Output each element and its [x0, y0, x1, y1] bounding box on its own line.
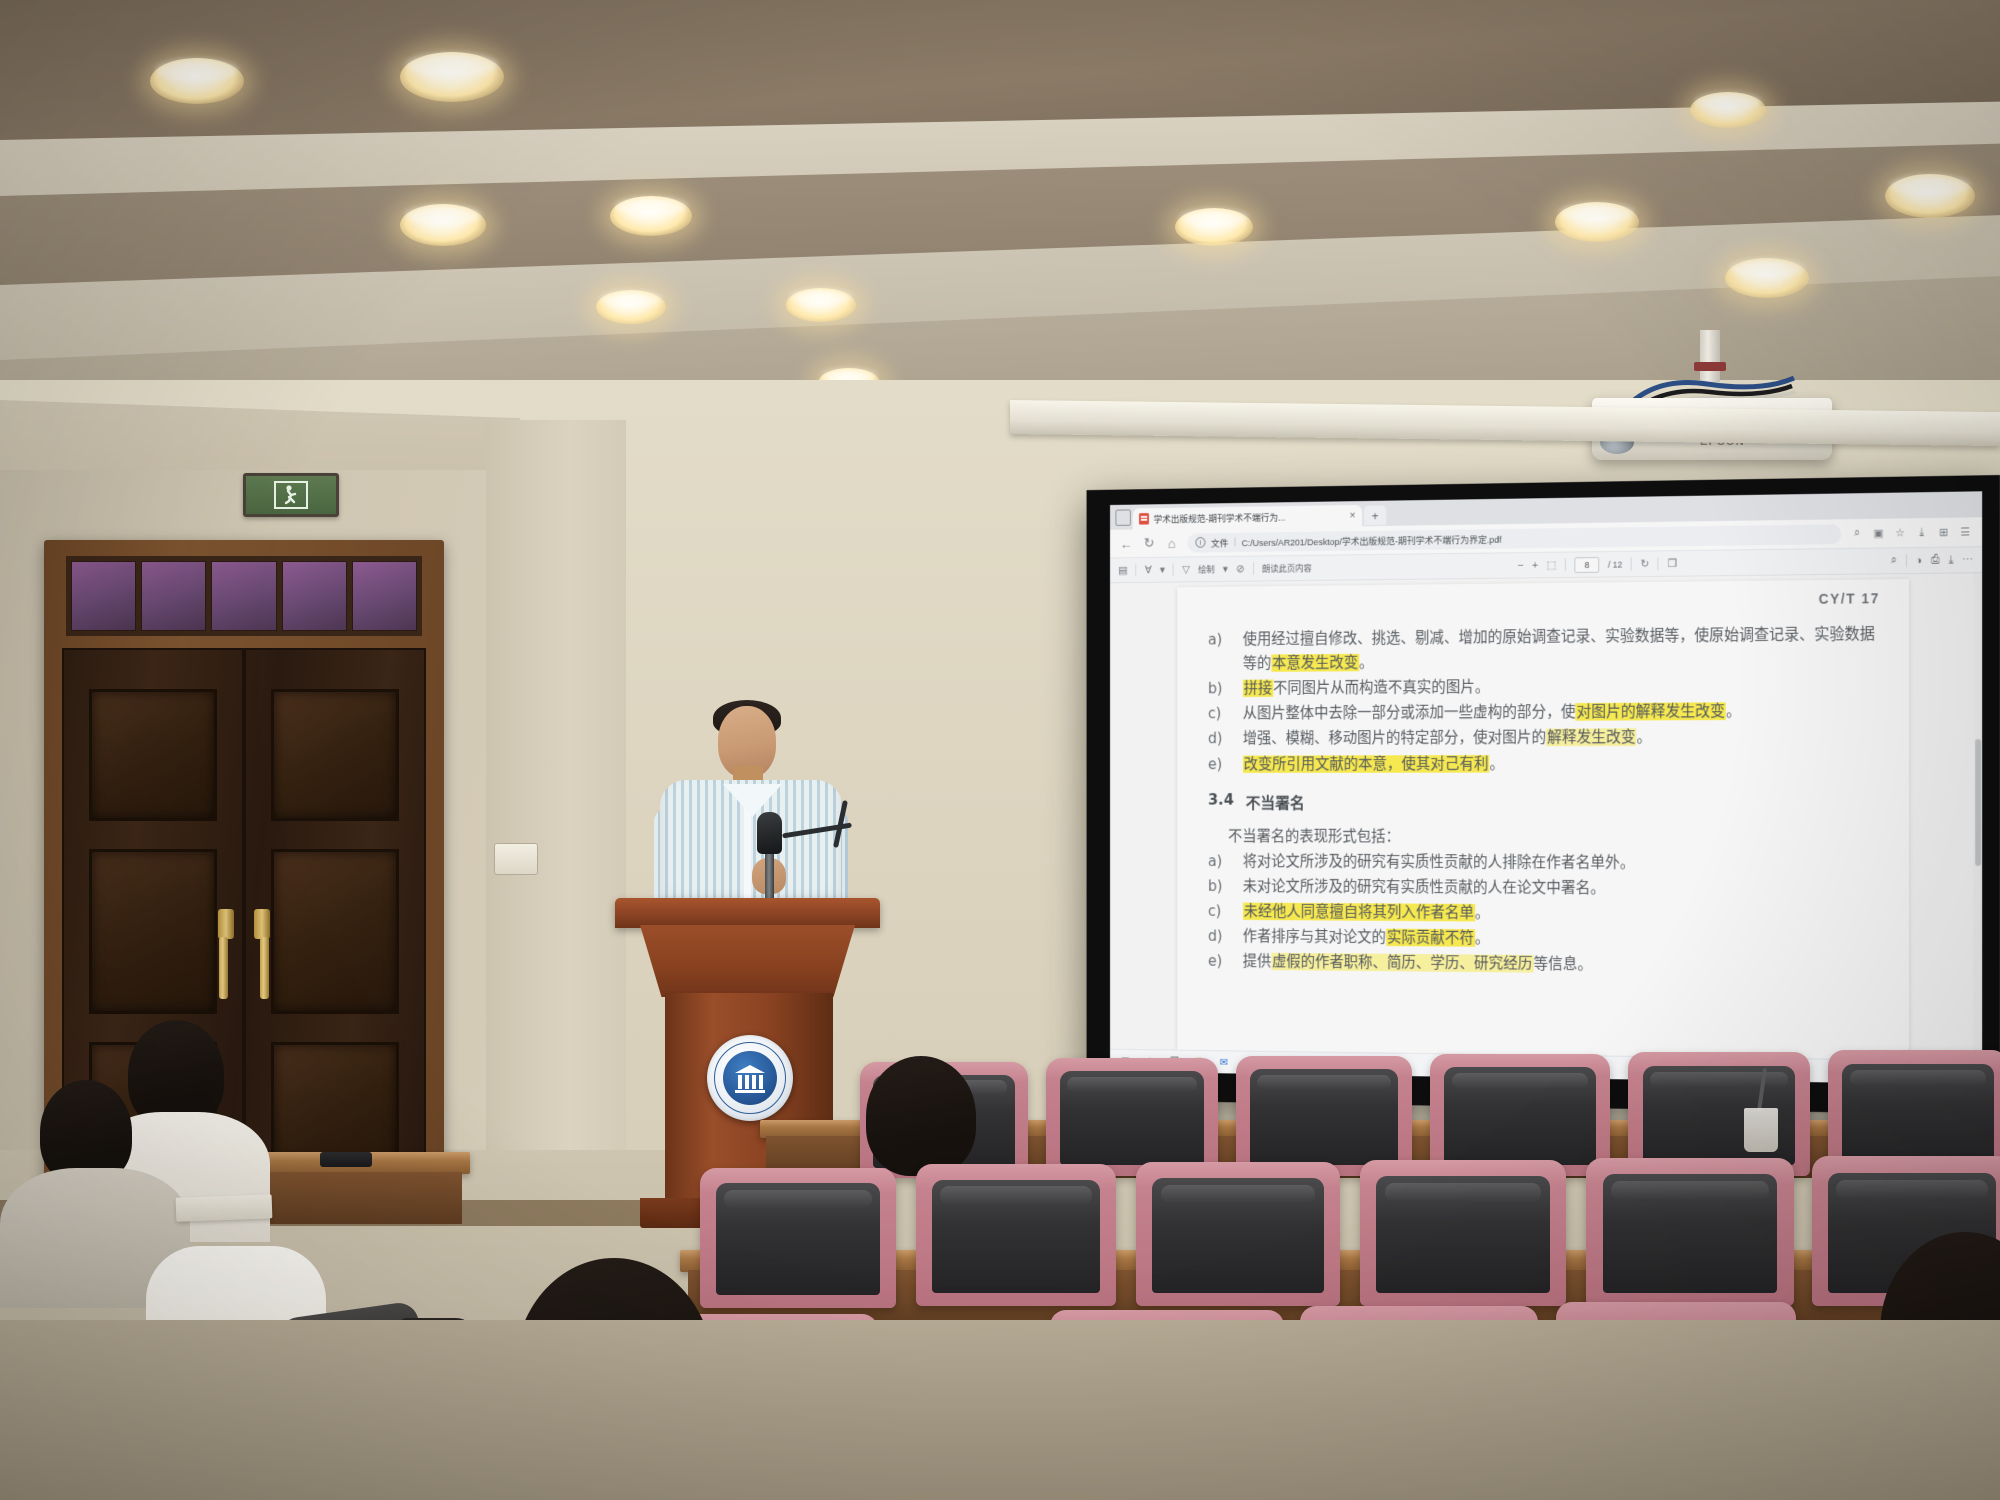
- chair-back-row[interactable]: [1046, 1058, 1218, 1176]
- drink-cup: [1744, 1108, 1778, 1152]
- ceiling-downlight: [400, 204, 486, 246]
- door-panel: [271, 849, 399, 1015]
- door-handle-left[interactable]: [219, 937, 228, 999]
- ceiling-downlight: [596, 290, 666, 324]
- url-scheme-label: 文件: [1211, 535, 1228, 549]
- door-handle-right[interactable]: [260, 937, 269, 999]
- light-switch-plate[interactable]: [494, 843, 538, 875]
- list-item-text: 提供虚假的作者职称、简历、学历、研究经历等信息。: [1243, 950, 1880, 980]
- draw-dropdown-icon[interactable]: ▾: [1223, 563, 1228, 576]
- pdf-list-item: a)使用经过擅自修改、挑选、剔减、增加的原始调查记录、实验数据等，使原始调查记录…: [1208, 622, 1880, 676]
- ceiling-downlight: [400, 52, 504, 102]
- pdf-page: CY/T 17 a)使用经过擅自修改、挑选、剔减、增加的原始调查记录、实验数据等…: [1177, 579, 1909, 1060]
- sidebar-toggle-icon[interactable]: ▤: [1118, 564, 1127, 577]
- door-panel: [271, 1042, 399, 1169]
- podium-upper-body: [640, 925, 855, 997]
- chair-back-row[interactable]: [1430, 1054, 1610, 1176]
- more-options-icon[interactable]: ⋯: [1962, 553, 1973, 566]
- plain-text: 不同图片从而构造不真实的图片。: [1273, 678, 1489, 697]
- address-bar[interactable]: i 文件 | C:/Users/AR201/Desktop/学术出版规范-期刊学…: [1187, 524, 1841, 552]
- chair-frame: [916, 1164, 1116, 1306]
- floor: [0, 1320, 2000, 1500]
- ceiling-downlight: [1175, 208, 1253, 246]
- rotate-icon[interactable]: ↻: [1640, 557, 1649, 570]
- chair-cushion: [1152, 1178, 1323, 1293]
- tab-title: 学术出版规范-期刊学术不端行为...: [1154, 509, 1345, 525]
- highlighted-text: 改变所引用文献的本意，使其对己有利: [1243, 755, 1490, 773]
- door-panel: [271, 689, 399, 821]
- plain-text: 。: [1637, 729, 1652, 747]
- list-item-text: 未对论文所涉及的研究有实质性贡献的人在论文中署名。: [1243, 875, 1880, 903]
- emergency-exit-sign: [243, 473, 339, 517]
- chair-frame: [1046, 1058, 1218, 1176]
- list-marker: b): [1208, 677, 1228, 701]
- pdf-favicon: [1139, 513, 1149, 525]
- plain-text: 。: [1726, 703, 1741, 721]
- chair-frame: [1430, 1054, 1610, 1176]
- highlighted-text: 未经他人同意擅自将其列入作者名单: [1243, 902, 1475, 921]
- print-icon[interactable]: ⎙: [1931, 554, 1940, 567]
- highlighted-text: 解释发生改变: [1546, 729, 1636, 747]
- toolbar-divider: [1906, 554, 1907, 567]
- tab-close-icon[interactable]: ×: [1350, 510, 1356, 522]
- plain-text: 未对论文所涉及的研究有实质性贡献的人在论文中署名。: [1243, 877, 1605, 896]
- pdf-list-item: e)提供虚假的作者职称、简历、学历、研究经历等信息。: [1208, 949, 1880, 980]
- chair-middle-row[interactable]: [916, 1164, 1116, 1306]
- read-aloud-label[interactable]: 朗读此页内容: [1262, 562, 1312, 575]
- chair-cushion: [716, 1183, 881, 1295]
- door-leaf-right[interactable]: [244, 648, 426, 1204]
- page-total-label: / 12: [1608, 559, 1622, 569]
- transom-pane: [71, 561, 136, 631]
- section-title: 不当署名: [1246, 790, 1305, 813]
- pdf-list-item: b)未对论文所涉及的研究有实质性贡献的人在论文中署名。: [1208, 874, 1880, 902]
- page-layout-icon[interactable]: ❐: [1667, 557, 1676, 570]
- draw-icon[interactable]: ▽: [1182, 563, 1190, 576]
- list-item-text: 拼接不同图片从而构造不真实的图片。: [1243, 673, 1880, 701]
- favorite-star-icon[interactable]: ☆: [1893, 526, 1907, 540]
- reload-icon[interactable]: ↻: [1142, 535, 1157, 551]
- list-marker: a): [1208, 849, 1228, 873]
- door-lock-escutcheon: [218, 909, 234, 939]
- pdf-list-item: e)改变所引用文献的本意，使其对己有利。: [1208, 751, 1880, 777]
- highlighter-icon[interactable]: ∀: [1145, 564, 1152, 577]
- podium-top-surface: [615, 898, 880, 928]
- ceiling-downlight: [1725, 258, 1809, 298]
- list-item-text: 使用经过擅自修改、挑选、剔减、增加的原始调查记录、实验数据等，使原始调查记录、实…: [1243, 622, 1880, 676]
- collections-icon[interactable]: ▣: [1872, 526, 1886, 540]
- chair-cushion: [1603, 1174, 1778, 1292]
- list-marker: e): [1208, 752, 1228, 776]
- toolbar-divider: [1173, 563, 1174, 575]
- plain-text: 。: [1489, 755, 1504, 773]
- url-path-text: C:/Users/AR201/Desktop/学术出版规范-期刊学术不端行为界定…: [1242, 531, 1502, 548]
- projection-screen: 学术出版规范-期刊学术不端行为... × + ← ↻ ⌂ i 文件 | C:/U…: [1087, 475, 2000, 1115]
- zoom-icon[interactable]: ⌕: [1850, 526, 1864, 540]
- toolbar-divider: [1631, 558, 1632, 571]
- presenter-shirt-placket: [744, 800, 751, 910]
- plain-text: 。: [1475, 904, 1490, 922]
- phone-on-desk: [320, 1152, 372, 1167]
- url-separator: |: [1234, 537, 1236, 548]
- plain-text: 将对论文所涉及的研究有实质性贡献的人排除在作者名单外。: [1243, 852, 1635, 871]
- running-person-exit-icon: [274, 481, 308, 509]
- emblem-core: [723, 1051, 777, 1105]
- transom-pane: [141, 561, 206, 631]
- site-info-icon[interactable]: i: [1195, 537, 1205, 548]
- toolbar-divider: [1253, 562, 1254, 575]
- classical-building-columns-icon: [732, 1062, 768, 1094]
- transom-pane: [211, 561, 276, 631]
- chair-middle-row[interactable]: [1586, 1158, 1794, 1306]
- pdf-list-item: d)增强、模糊、移动图片的特定部分，使对图片的解释发生改变。: [1208, 725, 1880, 752]
- pdf-section-intro: 不当署名的表现形式包括：: [1228, 824, 1880, 847]
- pdf-list-section-3-3: a)使用经过擅自修改、挑选、剔减、增加的原始调查记录、实验数据等，使原始调查记录…: [1208, 622, 1880, 776]
- highlighted-text: 拼接: [1243, 680, 1273, 697]
- tab-search-icon[interactable]: [1115, 509, 1130, 525]
- list-marker: e): [1208, 949, 1228, 973]
- audience-head: [866, 1056, 976, 1176]
- list-marker: b): [1208, 874, 1228, 898]
- plain-text: 作者排序与其对论文的: [1243, 928, 1386, 946]
- list-item-text: 从图片整体中去除一部分或添加一些虚构的部分，使对图片的解释发生改变。: [1243, 699, 1880, 726]
- lecture-hall-scene: EPSON 学术出版规范-期刊学术不端行为... × + ←: [0, 0, 2000, 1500]
- chair-cushion: [1444, 1067, 1595, 1165]
- chair-cushion: [932, 1180, 1100, 1294]
- projected-image-area: 学术出版规范-期刊学术不端行为... × + ← ↻ ⌂ i 文件 | C:/U…: [1110, 491, 1982, 1084]
- page-number-input[interactable]: 8: [1575, 557, 1600, 573]
- door-panel: [89, 849, 217, 1015]
- ceiling-downlight: [1885, 174, 1975, 218]
- fit-page-icon[interactable]: ⬚: [1547, 559, 1557, 572]
- pdf-list-item: b)拼接不同图片从而构造不真实的图片。: [1208, 673, 1880, 701]
- browser-menu-icon[interactable]: ☰: [1958, 525, 1972, 539]
- list-marker: c): [1208, 702, 1228, 726]
- chair-middle-row[interactable]: [700, 1168, 896, 1308]
- exit-sign-face: [246, 476, 336, 514]
- university-emblem: [707, 1035, 793, 1121]
- microphone-body: [765, 846, 774, 904]
- plain-text: 提供: [1243, 953, 1271, 971]
- pdf-section-heading-3-4: 3.4 不当署名: [1208, 790, 1880, 814]
- ceiling-downlight: [610, 196, 692, 236]
- chair-frame: [1136, 1162, 1340, 1306]
- pdf-viewport[interactable]: CY/T 17 a)使用经过擅自修改、挑选、剔减、增加的原始调查记录、实验数据等…: [1110, 573, 1982, 1061]
- list-item-text: 增强、模糊、移动图片的特定部分，使对图片的解释发生改变。: [1243, 725, 1880, 751]
- plain-text: 。: [1359, 654, 1373, 672]
- list-item-text: 未经他人同意擅自将其列入作者名单。: [1243, 900, 1880, 929]
- highlighted-text: 虚假的作者职称、简历、学历、研究经历: [1271, 953, 1533, 973]
- door-transom-window: [66, 556, 422, 636]
- pdf-list-section-3-4: a)将对论文所涉及的研究有实质性贡献的人排除在作者名单外。b)未对论文所涉及的研…: [1208, 849, 1880, 980]
- pdf-list-item: a)将对论文所涉及的研究有实质性贡献的人排除在作者名单外。: [1208, 849, 1880, 876]
- notebook-on-desk: [176, 1194, 273, 1221]
- chair-frame: [1586, 1158, 1794, 1306]
- save-icon[interactable]: ⤓: [1949, 554, 1954, 567]
- chair-frame: [1236, 1056, 1412, 1176]
- highlighted-text: 实际贡献不符: [1386, 929, 1475, 947]
- plain-text: 从图片整体中去除一部分或添加一些虚构的部分，使: [1243, 703, 1576, 722]
- pdf-running-header: CY/T 17: [1208, 590, 1880, 613]
- microphone-head: [757, 812, 782, 854]
- toolbar-spacer: [1686, 561, 1882, 563]
- chair-back-row[interactable]: [1236, 1056, 1412, 1176]
- ceiling-downlight: [786, 288, 856, 322]
- downloads-icon[interactable]: ⤓: [1915, 525, 1929, 539]
- list-marker: a): [1208, 628, 1228, 676]
- list-marker: c): [1208, 899, 1228, 923]
- omnibar-actions: ⌕ ▣ ☆ ⤓ ⊞ ☰: [1850, 525, 1972, 541]
- browser-window: 学术出版规范-期刊学术不端行为... × + ← ↻ ⌂ i 文件 | C:/U…: [1110, 491, 1982, 1084]
- list-item-text: 改变所引用文献的本意，使其对己有利。: [1243, 751, 1880, 777]
- find-icon[interactable]: ⌕: [1891, 554, 1897, 567]
- transom-pane: [282, 561, 347, 631]
- chair-cushion: [1842, 1064, 1993, 1165]
- split-screen-icon[interactable]: ⊞: [1937, 525, 1951, 539]
- transom-pane: [352, 561, 417, 631]
- section-number: 3.4: [1208, 790, 1234, 813]
- chair-frame: [700, 1168, 896, 1308]
- pdf-scrollbar-thumb[interactable]: [1975, 739, 1981, 866]
- chair-frame: [1360, 1160, 1566, 1306]
- chair-middle-row[interactable]: [1360, 1160, 1566, 1306]
- emblem-outer-ring: [714, 1042, 786, 1114]
- toolbar-divider: [1658, 557, 1659, 570]
- ceiling-downlight: [1555, 202, 1639, 242]
- zoom-in-icon[interactable]: +: [1532, 559, 1538, 571]
- toolbar-spacer: [1320, 565, 1509, 567]
- zoom-out-icon[interactable]: −: [1517, 559, 1523, 571]
- ceiling-downlight: [1690, 92, 1766, 128]
- home-icon[interactable]: ⌂: [1164, 535, 1179, 551]
- highlighter-dropdown-icon[interactable]: ▾: [1160, 563, 1165, 575]
- highlighted-text: 对图片的解释发生改变: [1576, 703, 1726, 721]
- chair-middle-row[interactable]: [1136, 1162, 1340, 1306]
- pdf-list-item: c)从图片整体中去除一部分或添加一些虚构的部分，使对图片的解释发生改变。: [1208, 699, 1880, 726]
- draw-label[interactable]: 绘制: [1198, 563, 1214, 576]
- highlighted-text: 本意发生改变: [1271, 654, 1359, 672]
- door-panel: [89, 689, 217, 821]
- erase-icon[interactable]: ⊘: [1236, 562, 1244, 575]
- door-lock-escutcheon: [254, 909, 270, 939]
- chair-cushion: [1060, 1071, 1204, 1165]
- reading-mode-icon[interactable]: ◑: [1916, 554, 1923, 566]
- plain-text: 增强、模糊、移动图片的特定部分，使对图片的: [1243, 729, 1546, 747]
- chair-cushion: [1250, 1069, 1398, 1165]
- mail-icon[interactable]: ✉: [1217, 1055, 1230, 1069]
- new-tab-button[interactable]: +: [1364, 506, 1386, 526]
- chair-cushion: [1376, 1176, 1549, 1293]
- back-arrow-icon[interactable]: ←: [1119, 536, 1133, 551]
- plain-text: 等信息。: [1533, 955, 1592, 973]
- ceiling-downlight: [150, 58, 244, 104]
- plain-text: 。: [1475, 929, 1490, 947]
- list-item-text: 将对论文所涉及的研究有实质性贡献的人排除在作者名单外。: [1243, 849, 1880, 876]
- pdf-list-item: c)未经他人同意擅自将其列入作者名单。: [1208, 899, 1880, 928]
- list-marker: d): [1208, 727, 1228, 751]
- list-marker: d): [1208, 924, 1228, 948]
- toolbar-divider: [1136, 564, 1137, 576]
- toolbar-divider: [1565, 558, 1566, 571]
